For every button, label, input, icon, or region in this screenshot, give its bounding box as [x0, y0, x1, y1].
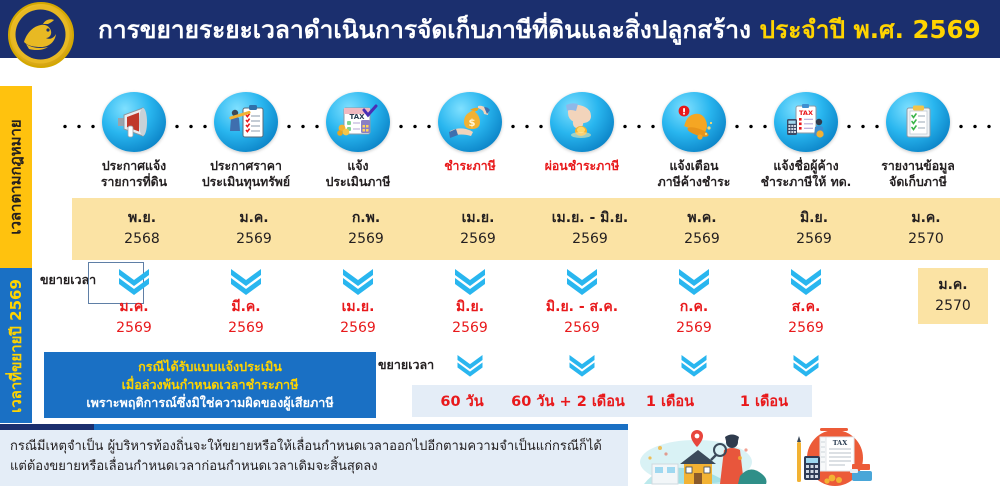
extension-cell-3: เม.ย. 2569 [302, 262, 414, 339]
double-chevron-down-icon [452, 266, 488, 296]
tax-list-calc-icon: TAX [774, 92, 838, 152]
legal-date-cell-1: พ.ย. 2568 [86, 198, 198, 260]
timeline-step-5[interactable]: ผ่อนชำระภาษี [526, 86, 638, 174]
timeline-step-7-label: แจ้งชื่อผู้ค้าง ชำระภาษีให้ ทด. [750, 158, 862, 190]
double-chevron-down-icon [791, 352, 821, 378]
timeline-step-2[interactable]: ประกาศราคา ประเมินทุนทรัพย์ [190, 86, 302, 190]
duration-chevron-3 [638, 352, 750, 382]
extension-date-1: ม.ค. 2569 [78, 297, 190, 339]
legal-date-cell-4: เม.ย. 2569 [422, 198, 534, 260]
double-chevron-down-icon [788, 266, 824, 296]
duration-chevron-row [32, 352, 1000, 382]
extension-cell-5: มิ.ย. - ส.ค. 2569 [526, 262, 638, 339]
svg-text:TAX: TAX [833, 439, 849, 447]
extension-cell-6: ก.ค. 2569 [638, 262, 750, 339]
timeline-row: ประกาศแจ้ง รายการที่ดิน [32, 86, 1000, 198]
clipboard-person-icon [214, 92, 278, 152]
duration-value-3: 1 เดือน [624, 385, 716, 417]
infographic-page: การขยายระยะเวลาดำเนินการจัดเก็บภาษีที่ดิ… [0, 0, 1000, 486]
extension-cell-1: ม.ค. 2569 [78, 262, 190, 339]
extension-date-4: มิ.ย. 2569 [414, 297, 526, 339]
extension-last-cell: ม.ค. 2570 [918, 268, 988, 324]
footer-note-line-1: กรณีมีเหตุจำเป็น ผู้บริหารท้องถิ่นจะให้ข… [10, 437, 618, 457]
timeline-step-7[interactable]: TAX แจ้งชื่อผู้ค้า [750, 86, 862, 190]
legal-date-cell-6: พ.ค. 2569 [646, 198, 758, 260]
header-bar: การขยายระยะเวลาดำเนินการจัดเก็บภาษีที่ดิ… [0, 0, 1000, 58]
legal-date-cell-3: ก.พ. 2569 [310, 198, 422, 260]
extension-date-6: ก.ค. 2569 [638, 297, 750, 339]
extension-date-2: มี.ค. 2569 [190, 297, 302, 339]
extension-cell-2: มี.ค. 2569 [190, 262, 302, 339]
page-title: การขยายระยะเวลาดำเนินการจัดเก็บภาษีที่ดิ… [98, 10, 981, 49]
page-title-year: ประจำปี พ.ศ. 2569 [760, 15, 981, 44]
legal-date-band: พ.ย. 2568 ม.ค. 2569 ก.พ. 2569 เม.ย. 2569… [72, 198, 1000, 260]
sidebar-label-legal-time: เวลาตามกฎหมาย [0, 86, 32, 268]
timeline-step-4-label: ชำระภาษี [414, 158, 526, 174]
timeline-step-3-label: แจ้ง ประเมินภาษี [302, 158, 414, 190]
timeline-step-8-label: รายงานข้อมูล จัดเก็บภาษี [862, 158, 974, 190]
timeline-step-4[interactable]: $ ชำระภาษี [414, 86, 526, 174]
double-chevron-down-icon [116, 266, 152, 296]
footer-note: กรณีมีเหตุจำเป็น ผู้บริหารท้องถิ่นจะให้ข… [0, 430, 628, 486]
duration-band: 60 วัน 60 วัน + 2 เดือน 1 เดือน 1 เดือน [412, 385, 812, 417]
extension-date-5: มิ.ย. - ส.ค. 2569 [526, 297, 638, 339]
house-inspector-illustration [636, 428, 770, 486]
double-chevron-down-icon [567, 352, 597, 378]
svg-text:TAX: TAX [799, 109, 813, 117]
timeline-step-6[interactable]: แจ้งเตือน ภาษีค้างชำระ [638, 86, 750, 190]
extension-row: ขยายเวลา ม.ค. 2569 มี.ค. 2569 [32, 262, 1000, 352]
bell-alert-icon [662, 92, 726, 152]
page-title-main: การขยายระยะเวลาดำเนินการจัดเก็บภาษีที่ดิ… [98, 15, 751, 44]
extension-date-7: ส.ค. 2569 [750, 297, 862, 339]
timeline-step-3[interactable]: TAX แจ้ง ประเมินภาษี [302, 86, 414, 190]
checklist-board-icon [886, 92, 950, 152]
duration-value-2: 60 วัน + 2 เดือน [512, 385, 624, 417]
money-bag-hand-icon: $ [438, 92, 502, 152]
double-chevron-down-icon [455, 352, 485, 378]
sidebar-label-extended-time-text: เวลาที่ขยายปี 2569 [4, 279, 28, 413]
timeline-step-1-label: ประกาศแจ้ง รายการที่ดิน [78, 158, 190, 190]
extension-cell-7: ส.ค. 2569 [750, 262, 862, 339]
double-chevron-down-icon [228, 266, 264, 296]
duration-value-4: 1 เดือน [716, 385, 812, 417]
timeline-step-6-label: แจ้งเตือน ภาษีค้างชำระ [638, 158, 750, 190]
tax-form-check-icon: TAX [326, 92, 390, 152]
tax-document-calculator-illustration: TAX [790, 428, 880, 486]
sidebar-label-legal-time-text: เวลาตามกฎหมาย [4, 119, 28, 234]
callout-line-3: เพราะพฤติการณ์ซึ่งมิใช่ความผิดของผู้เสีย… [86, 394, 333, 412]
timeline-step-1[interactable]: ประกาศแจ้ง รายการที่ดิน [78, 86, 190, 190]
timeline-step-8[interactable]: รายงานข้อมูล จัดเก็บภาษี [862, 86, 974, 190]
duration-value-1: 60 วัน [412, 385, 512, 417]
svg-text:TAX: TAX [349, 113, 365, 121]
duration-chevron-2 [526, 352, 638, 382]
legal-date-cell-7: มิ.ย. 2569 [758, 198, 870, 260]
extension-date-3: เม.ย. 2569 [302, 297, 414, 339]
timeline-step-2-label: ประกาศราคา ประเมินทุนทรัพย์ [190, 158, 302, 190]
double-chevron-down-icon [676, 266, 712, 296]
double-chevron-down-icon [679, 352, 709, 378]
timeline-step-5-label: ผ่อนชำระภาษี [526, 158, 638, 174]
footer-note-line-2: แต่ต้องขยายหรือเลื่อนกำหนดเวลาก่อนกำหนดเ… [10, 457, 618, 477]
megaphone-icon [102, 92, 166, 152]
hand-coin-icon [550, 92, 614, 152]
legal-date-cell-2: ม.ค. 2569 [198, 198, 310, 260]
legal-date-cell-5: เม.ย. - มิ.ย. 2569 [534, 198, 646, 260]
double-chevron-down-icon [564, 266, 600, 296]
duration-chevron-1 [414, 352, 526, 382]
duration-chevron-4 [750, 352, 862, 382]
svg-text:$: $ [469, 118, 476, 129]
extension-cell-4: มิ.ย. 2569 [414, 262, 526, 339]
thai-garuda-singha-emblem-icon [8, 2, 74, 68]
double-chevron-down-icon [340, 266, 376, 296]
sidebar-label-extended-time: เวลาที่ขยายปี 2569 [0, 268, 32, 423]
legal-date-cell-8: ม.ค. 2570 [870, 198, 982, 260]
